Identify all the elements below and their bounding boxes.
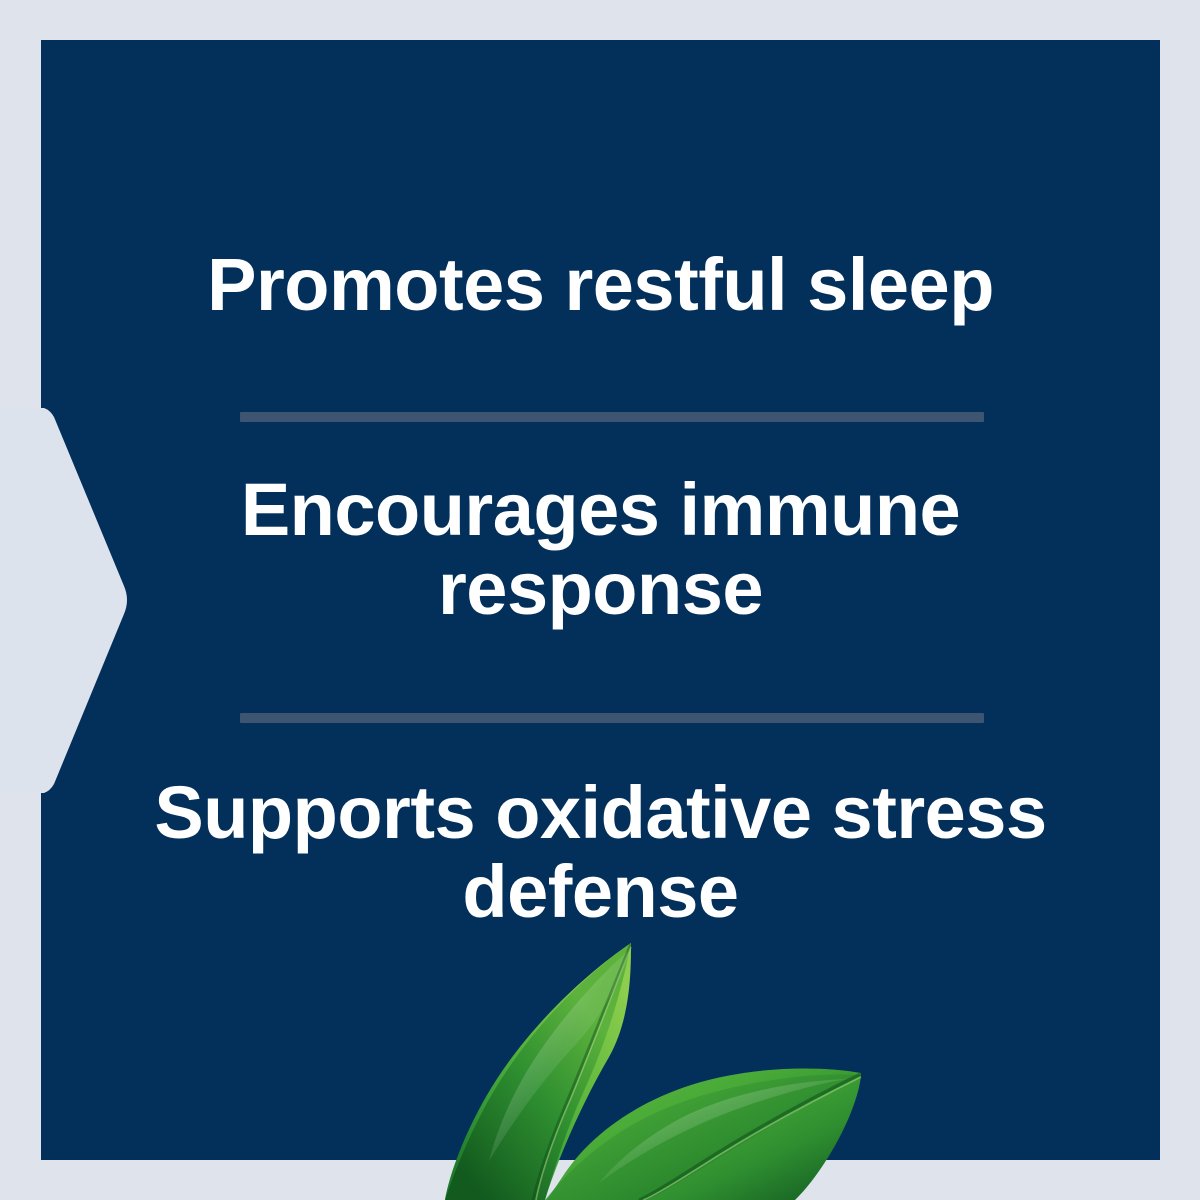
benefit-text-3: Supports oxidative stress defense (41, 773, 1160, 931)
benefit-text-2: Encourages immune response (41, 470, 1160, 628)
benefit-text-1: Promotes restful sleep (41, 245, 1160, 324)
benefit-divider-2 (240, 713, 984, 723)
benefit-divider-1 (240, 412, 984, 422)
benefits-stack: Promotes restful sleep Encourages immune… (41, 40, 1160, 1160)
promo-graphic: Promotes restful sleep Encourages immune… (0, 0, 1200, 1200)
